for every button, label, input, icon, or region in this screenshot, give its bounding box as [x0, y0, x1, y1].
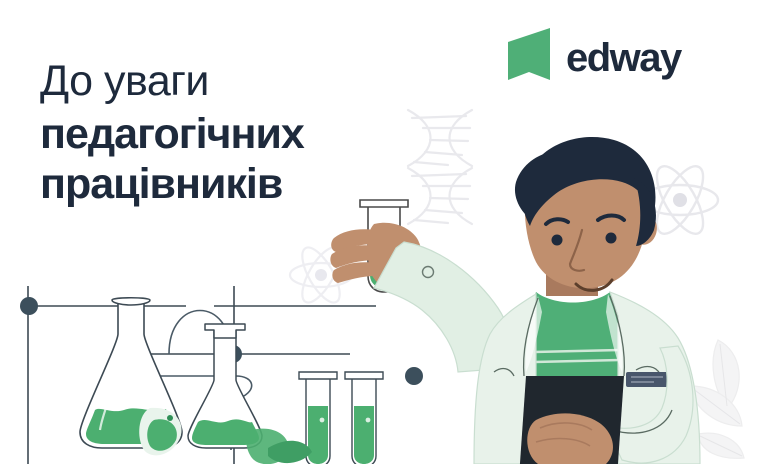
name-badge [626, 372, 672, 387]
head [515, 137, 657, 290]
eye-left [552, 235, 563, 246]
promo-banner: До уваги педагогічних працівників edway [0, 0, 760, 464]
edway-logo[interactable]: edway [506, 28, 681, 88]
headline-line-1: До уваги [40, 57, 400, 105]
green-flag-pennant-icon [506, 28, 554, 88]
eye-right [606, 233, 617, 244]
scientist-illustration [330, 120, 760, 464]
clamp-knob [20, 297, 38, 315]
erlenmeyer-flask-small [188, 324, 262, 448]
logo-wordmark: edway [566, 38, 681, 78]
